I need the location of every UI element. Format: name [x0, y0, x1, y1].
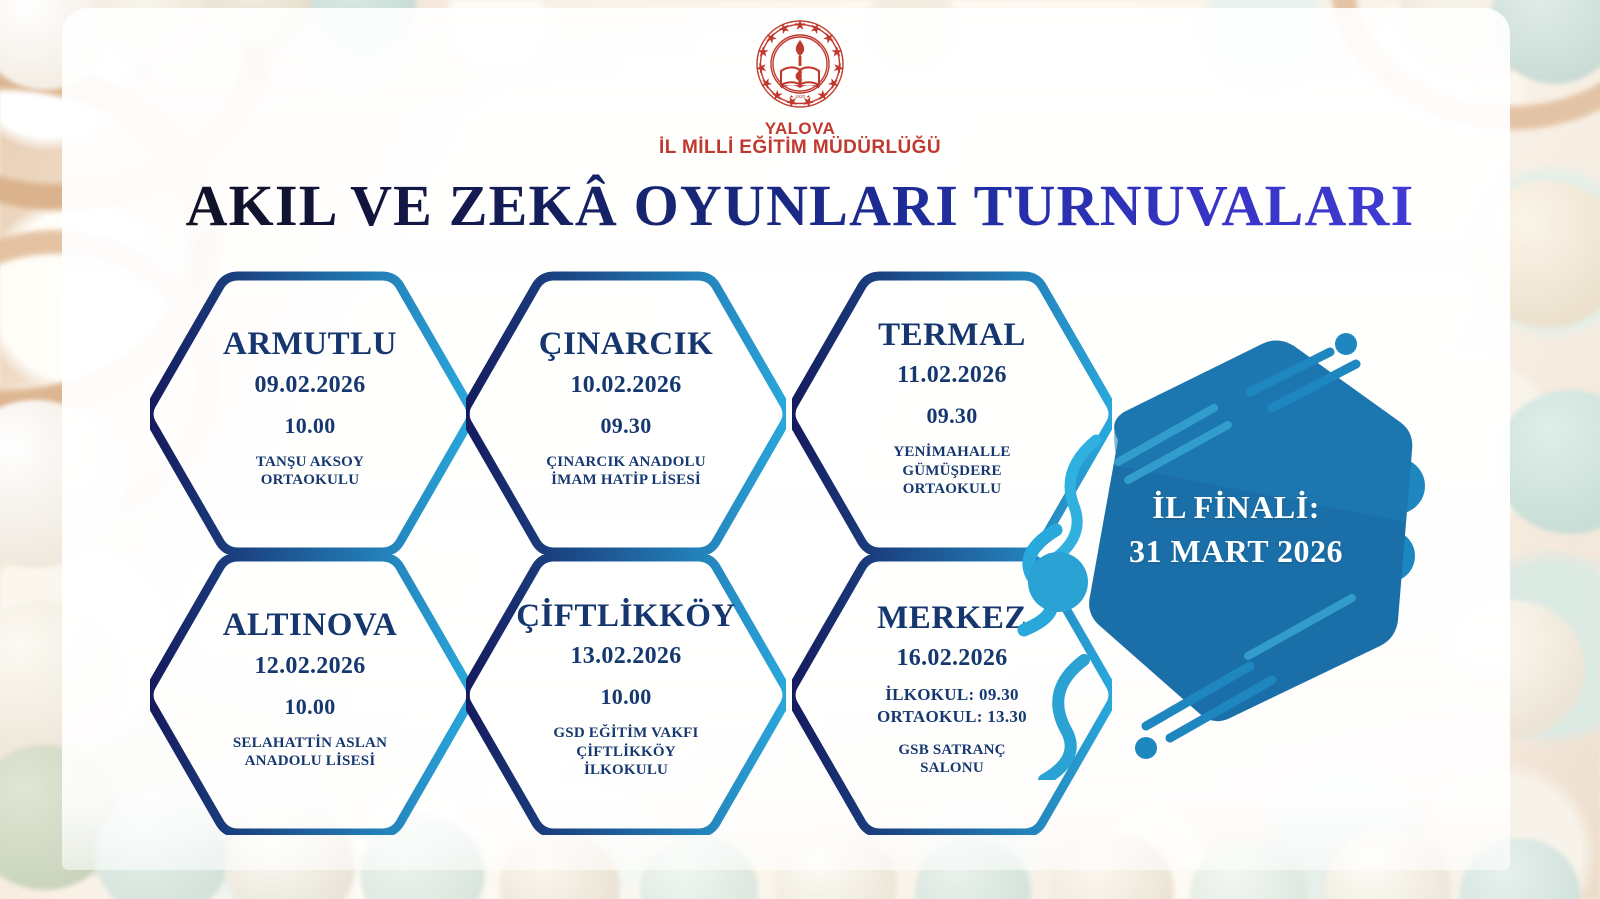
tournament-card-ciftlikkoy[interactable]: ÇİFTLİKKÖY 13.02.2026 10.00 GSD EĞİTİM V… [466, 543, 786, 835]
tournament-card-altinova[interactable]: ALTINOVA 12.02.2026 10.00 SELAHATTİN ASL… [150, 543, 470, 835]
card-date: 10.02.2026 [571, 372, 682, 399]
badge-line-1: İL FİNALİ: [1086, 485, 1386, 529]
card-content: ALTINOVA 12.02.2026 10.00 SELAHATTİN ASL… [150, 543, 470, 835]
card-venue: ÇINARCIK ANADOLUİMAM HATİP LİSESİ [546, 453, 705, 490]
card-time: 10.00 [601, 684, 652, 710]
card-venue: SELAHATTİN ASLANANADOLU LİSESİ [233, 734, 387, 771]
card-date: 16.02.2026 [897, 645, 1008, 672]
badge-line-2: 31 MART 2026 [1086, 529, 1386, 573]
card-date: 09.02.2026 [255, 372, 366, 399]
card-venue: YENİMAHALLEGÜMÜŞDEREORTAOKULU [893, 443, 1010, 498]
tournament-grid: ARMUTLU 09.02.2026 10.00 TANŞU AKSOYORTA… [150, 262, 1130, 842]
provincial-final-badge[interactable]: İL FİNALİ: 31 MART 2026 [1000, 330, 1460, 780]
card-content: ÇİFTLİKKÖY 13.02.2026 10.00 GSD EĞİTİM V… [466, 543, 786, 835]
card-content: ARMUTLU 09.02.2026 10.00 TANŞU AKSOYORTA… [150, 262, 470, 554]
card-content: ÇINARCIK 10.02.2026 09.30 ÇINARCIK ANADO… [466, 262, 786, 554]
org-name-directorate: İL MİLLİ EĞİTİM MÜDÜRLÜĞÜ [0, 138, 1600, 159]
card-date: 12.02.2026 [255, 653, 366, 680]
tournament-card-cinarcik[interactable]: ÇINARCIK 10.02.2026 09.30 ÇINARCIK ANADO… [466, 262, 786, 554]
poster-header: ★ 1920 ★ YALOVA İL MİLLİ EĞİTİM MÜDÜRLÜĞ… [0, 14, 1600, 159]
meb-seal-icon: ★ 1920 ★ [754, 14, 846, 114]
card-date: 13.02.2026 [571, 643, 682, 670]
org-name-province: YALOVA [0, 120, 1600, 138]
card-city: ÇİFTLİKKÖY [516, 599, 736, 634]
card-city: ALTINOVA [223, 608, 398, 643]
page-title: AKIL VE ZEKÂ OYUNLARI TURNUVALARI [0, 172, 1600, 239]
card-time: 10.00 [285, 694, 336, 720]
svg-text:★ 1920 ★: ★ 1920 ★ [789, 94, 811, 99]
badge-text: İL FİNALİ: 31 MART 2026 [1086, 485, 1386, 573]
card-time: 10.00 [285, 413, 336, 439]
card-time: 09.30 [927, 403, 978, 429]
card-city: ARMUTLU [223, 327, 397, 362]
card-date: 11.02.2026 [897, 362, 1007, 389]
card-city: ÇINARCIK [539, 327, 714, 362]
card-time: 09.30 [601, 413, 652, 439]
card-venue: GSB SATRANÇSALONU [898, 741, 1005, 778]
card-venue: TANŞU AKSOYORTAOKULU [256, 453, 364, 490]
poster-root: ★ 1920 ★ YALOVA İL MİLLİ EĞİTİM MÜDÜRLÜĞ… [0, 0, 1600, 899]
tournament-card-armutlu[interactable]: ARMUTLU 09.02.2026 10.00 TANŞU AKSOYORTA… [150, 262, 470, 554]
card-venue: GSD EĞİTİM VAKFIÇİFTLİKKÖYİLKOKULU [553, 724, 698, 779]
